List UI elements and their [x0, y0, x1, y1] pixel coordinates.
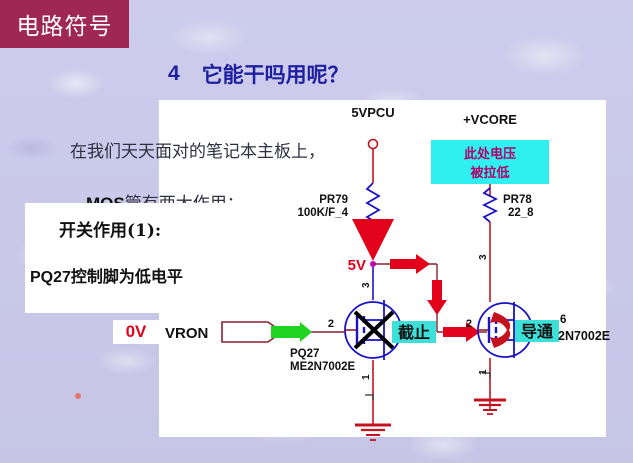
net-label-vron: VRON: [165, 325, 208, 342]
pin-label-q-right-source: 1: [478, 369, 489, 375]
signal-arrow-right-top: [390, 254, 430, 274]
switching-note-heading: 开关作用(1):: [59, 216, 161, 241]
input-voltage-chip: 0V: [113, 320, 159, 344]
switching-note-box: 开关作用(1): PQ27控制脚为低电平: [25, 203, 243, 313]
mosfet-pq27-part: ME2N7002E: [290, 361, 356, 373]
resistor-pr78-value: 22_8: [508, 207, 534, 219]
switching-note-body-prefix: PQ27: [30, 269, 71, 286]
pin-label-q27-source: 1: [361, 374, 372, 380]
state-badge-conducting-label: 导通: [521, 322, 553, 341]
signal-arrow-down-right: [427, 280, 447, 315]
pin-label-q27-drain: 3: [361, 282, 372, 288]
signal-arrow-green-low: [271, 322, 312, 342]
net-label-vcore: +VCORE: [463, 112, 517, 127]
switching-note-body: PQ27控制脚为低电平: [30, 263, 183, 287]
mosfet-right-extra-pin: 6: [560, 314, 566, 326]
mosfet-pq27-ref: PQ27: [290, 348, 319, 360]
bulk-tick-left: [365, 395, 373, 400]
intro-line-1: 在我们天天面对的笔记本主板上，: [70, 139, 400, 165]
background-speck: [75, 393, 81, 399]
pin-label-q27-gate: 2: [328, 318, 334, 330]
mosfet-right-part: 2N7002E: [558, 329, 610, 343]
callout-voltage-line-1: 此处电压: [464, 146, 516, 162]
pin-label-q-right-drain: 3: [478, 254, 489, 260]
ground-symbol-left: [355, 425, 391, 440]
callout-voltage-line-2: 被拉低: [469, 165, 509, 181]
conduction-indicator-lower: [490, 328, 510, 348]
node-5v-label: 5V: [348, 257, 366, 274]
switching-note-body-rest: 控制脚为低电平: [71, 267, 183, 286]
resistor-pr78-ref: PR78: [503, 194, 532, 206]
pin-label-q-right-gate: 2: [466, 318, 472, 330]
state-badge-cutoff-label: 截止: [398, 323, 430, 342]
signal-arrow-into-gate: [443, 322, 480, 342]
conduction-indicator-upper: [490, 312, 510, 332]
input-voltage-label: 0V: [126, 322, 147, 342]
